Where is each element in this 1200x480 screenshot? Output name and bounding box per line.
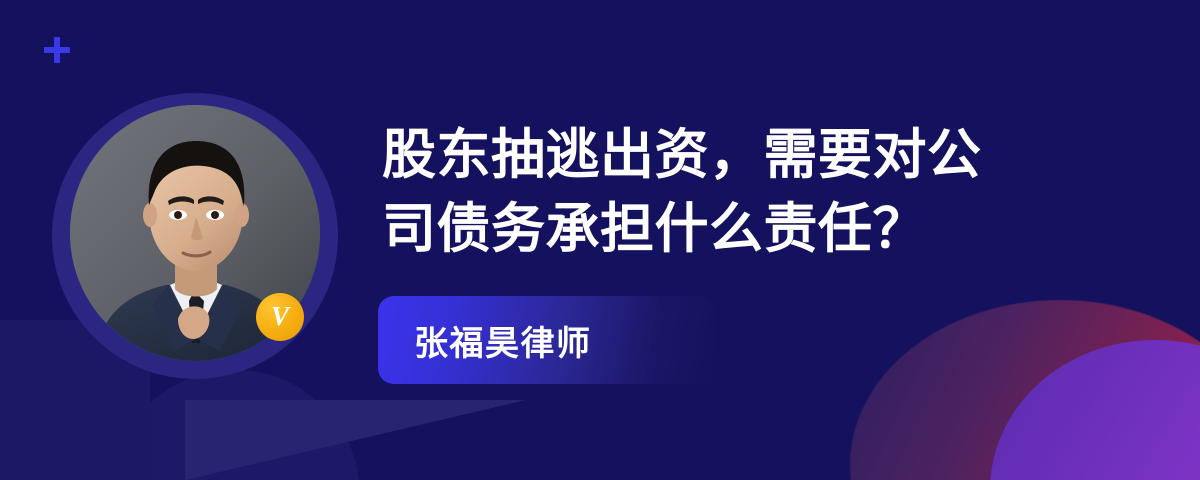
author-name-label: 张福昊律师 bbox=[378, 316, 592, 365]
article-cover-banner: V 股东抽逃出资，需要对公司债务承担什么责任？ 张福昊律师 bbox=[0, 0, 1200, 480]
verified-check-icon: V bbox=[256, 293, 304, 341]
avatar: V bbox=[52, 93, 338, 379]
page-title: 股东抽逃出资，需要对公司债务承担什么责任？ bbox=[382, 118, 982, 266]
background-triangle-shape bbox=[185, 400, 525, 480]
headline-container: 股东抽逃出资，需要对公司债务承担什么责任？ bbox=[382, 118, 1082, 266]
plus-icon bbox=[44, 37, 70, 63]
verified-badge-glyph: V bbox=[271, 303, 289, 330]
author-name-badge[interactable]: 张福昊律师 bbox=[378, 296, 716, 384]
